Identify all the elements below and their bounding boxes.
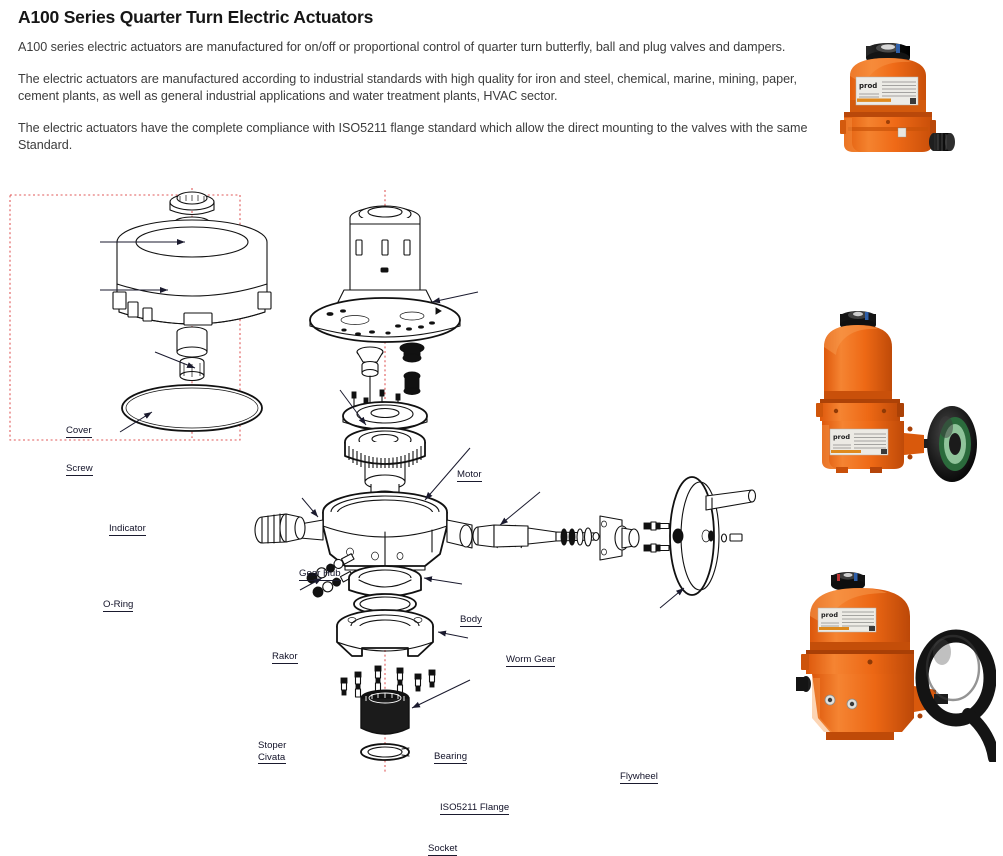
page-title: A100 Series Quarter Turn Electric Actuat…: [18, 6, 808, 28]
exploded-diagram-drawing: .s{fill:none;stroke:#111;stroke-width:1.…: [0, 180, 800, 772]
part-gear-stack: [357, 343, 424, 406]
part-retaining-ring: [361, 744, 409, 760]
part-cover: [117, 220, 267, 310]
exploded-diagram: .s{fill:none;stroke:#111;stroke-width:1.…: [0, 180, 800, 772]
upper-housing: [824, 325, 892, 399]
part-indicator: [180, 358, 204, 381]
product-photo-with-handwheel: prod: [812, 305, 994, 495]
label-motor: Motor: [457, 469, 482, 482]
part-body: [300, 492, 472, 570]
page-root: A100 Series Quarter Turn Electric Actuat…: [0, 0, 1003, 772]
label-bearing: Bearing: [434, 751, 467, 764]
product-photo-with-ring-wheel: prod: [790, 556, 996, 762]
nameplate: prod: [818, 608, 876, 632]
label-iso5211-flange: ISO5211 Flange: [440, 802, 509, 815]
handwheel: [927, 406, 977, 482]
part-indicator-barrel: [177, 327, 207, 357]
label-screw: Screw: [66, 463, 93, 476]
part-rakor: [255, 514, 305, 543]
intro-paragraph-3: The electric actuators have the complete…: [18, 120, 808, 155]
product-photo-compact: prod: [826, 32, 986, 172]
label-body: Body: [460, 614, 482, 627]
leader-flange: [438, 632, 468, 638]
part-iso5211-flange: [337, 610, 433, 656]
label-flywheel: Flywheel: [620, 771, 658, 784]
part-motor: [338, 206, 432, 306]
mid-flange: [801, 650, 914, 674]
leader-flywheel: [660, 588, 684, 608]
part-socket: [361, 690, 409, 734]
part-bearing: [349, 566, 421, 597]
label-socket: Socket: [428, 843, 457, 856]
mid-flange: [816, 399, 904, 421]
label-gear-hub: Gear Hub: [299, 568, 341, 581]
leader-bearing: [424, 578, 462, 584]
label-worm-gear: Worm Gear: [506, 654, 555, 667]
part-o-ring: [122, 385, 262, 431]
label-rakor: Rakor: [272, 651, 298, 664]
lower-body: prod: [822, 421, 904, 473]
leader-motor: [432, 292, 478, 302]
part-worm-gear: [473, 516, 639, 560]
part-mounting-plate: [310, 298, 460, 342]
leader-wormgear: [500, 492, 540, 525]
svg-text:prod: prod: [859, 82, 877, 90]
leader-rakor: [302, 498, 318, 517]
cable-gland: [929, 133, 955, 151]
nameplate: prod: [856, 77, 918, 105]
lower-body: [840, 112, 936, 152]
label-cover: Cover: [66, 425, 92, 438]
part-flywheel-bolts: [644, 522, 669, 552]
svg-text:prod: prod: [833, 433, 850, 441]
document-header: A100 Series Quarter Turn Electric Actuat…: [18, 6, 808, 155]
label-indicator: Indicator: [109, 523, 146, 536]
svg-text:prod: prod: [821, 611, 838, 619]
part-gear-hub: [345, 428, 425, 501]
intro-paragraph-2: The electric actuators are manufactured …: [18, 71, 808, 106]
label-o-ring: O-Ring: [103, 599, 133, 612]
intro-paragraph-1: A100 series electric actuators are manuf…: [18, 39, 808, 57]
part-washer-ring: [343, 402, 427, 430]
label-stoper-civata: Stoper Civata: [258, 740, 286, 764]
part-flywheel: [670, 477, 756, 595]
